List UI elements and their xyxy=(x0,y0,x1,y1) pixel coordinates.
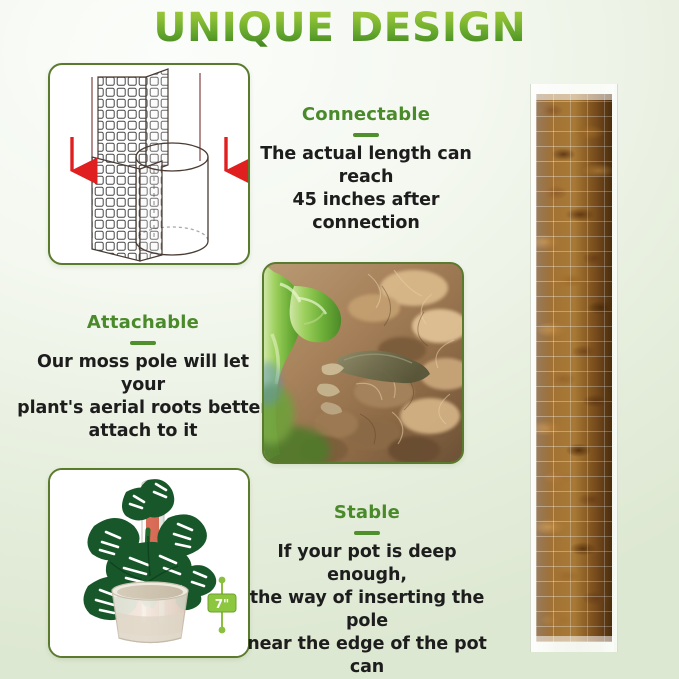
pole-connection-diagram xyxy=(50,65,248,263)
photo-card-aerial-roots xyxy=(262,262,464,464)
measure-badge-label: 7" xyxy=(215,597,230,611)
feature-body-attachable: Our moss pole will let your plant's aeri… xyxy=(14,351,272,443)
heading-divider xyxy=(354,531,380,535)
feature-heading-stable: Stable xyxy=(236,502,498,524)
feature-block-stable: Stable If your pot is deep enough, the w… xyxy=(236,502,498,679)
feature-block-connectable: Connectable The actual length can reach … xyxy=(236,104,496,235)
page-title-wrap: UNIQUE DESIGN xyxy=(0,6,679,50)
pole-top-edge xyxy=(534,84,614,100)
product-photo-moss-pole xyxy=(530,84,618,652)
heading-divider xyxy=(353,133,379,137)
feature-body-stable: If your pot is deep enough, the way of i… xyxy=(236,541,498,679)
feature-heading-connectable: Connectable xyxy=(236,104,496,126)
illustration-card-connectable xyxy=(48,63,250,265)
illustration-card-stable: 7" xyxy=(48,468,250,658)
feature-body-connectable: The actual length can reach 45 inches af… xyxy=(236,143,496,235)
page-title: UNIQUE DESIGN xyxy=(153,6,526,50)
pole-bottom-edge xyxy=(534,636,614,652)
heading-divider xyxy=(130,341,156,345)
aerial-root-closeup-photo xyxy=(264,264,462,462)
potted-plant-with-pole-diagram: 7" xyxy=(50,470,248,656)
feature-heading-attachable: Attachable xyxy=(14,312,272,334)
pole-coir-fill xyxy=(536,94,612,642)
feature-block-attachable: Attachable Our moss pole will let your p… xyxy=(14,312,272,443)
